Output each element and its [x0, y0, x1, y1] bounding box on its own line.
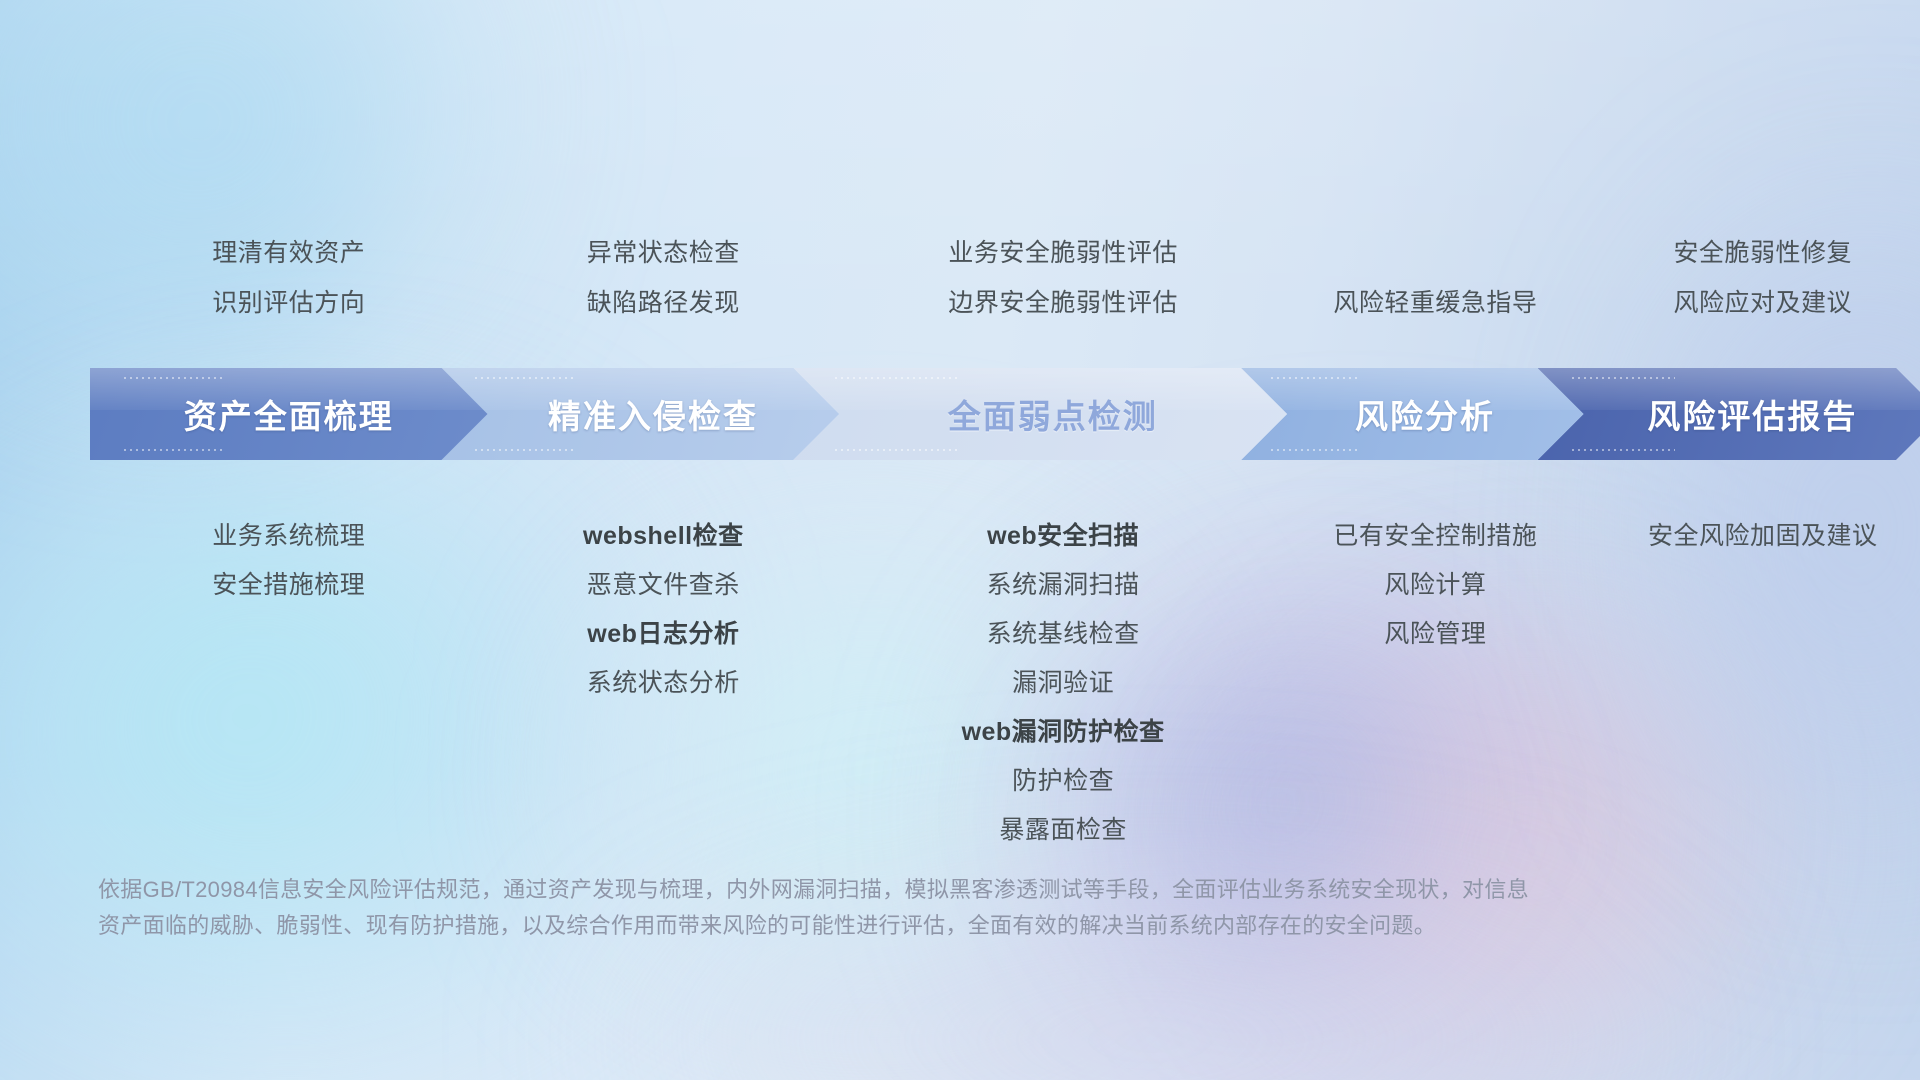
stage-detail-item: 风险计算 [1135, 561, 1735, 610]
footer-line-1: 依据GB/T20984信息安全风险评估规范，通过资产发现与梳理，内外网漏洞扫描，… [98, 872, 1738, 908]
top-note: 业务安全脆弱性评估 [763, 228, 1363, 278]
slide-canvas: 理清有效资产识别评估方向异常状态检查缺陷路径发现业务安全脆弱性评估边界安全脆弱性… [0, 0, 1920, 1080]
stage-details-column-assessment-report: 安全风险加固及建议 [1463, 512, 1920, 561]
stage-chevron-dot-texture [122, 447, 225, 453]
stage-label: 风险评估报告 [1647, 390, 1857, 438]
stage-label: 精准入侵检查 [548, 390, 758, 438]
stage-label: 资产全面梳理 [184, 390, 394, 438]
stage-chevron-dot-texture [1570, 447, 1675, 453]
stage-chevron-dot-texture [122, 375, 225, 381]
top-note: 风险应对及建议 [1463, 278, 1920, 328]
stage-detail-item: 漏洞验证 [763, 659, 1363, 708]
stage-label: 风险分析 [1355, 390, 1495, 438]
stage-detail-item: 防护检查 [763, 757, 1363, 806]
process-stage-weakness-detection[interactable]: 全面弱点检测 [793, 368, 1287, 460]
stage-detail-item: web漏洞防护检查 [763, 708, 1363, 757]
footer-line-2: 资产面临的威胁、脆弱性、现有防护措施，以及综合作用而带来风险的可能性进行评估，全… [98, 908, 1738, 944]
stage-detail-item: 暴露面检查 [763, 806, 1363, 855]
stage-chevron-dot-texture [473, 447, 576, 453]
stage-detail-item: 风险管理 [1135, 610, 1735, 659]
process-chevron-banner: 资产全面梳理精准入侵检查全面弱点检测风险分析风险评估报告 [90, 368, 1850, 460]
process-stage-intrusion-check[interactable]: 精准入侵检查 [442, 368, 840, 460]
top-note: 安全脆弱性修复 [1463, 228, 1920, 278]
stage-chevron-dot-texture [833, 447, 961, 453]
stage-detail-item: 安全风险加固及建议 [1463, 512, 1920, 561]
stage-chevron-dot-texture [473, 375, 576, 381]
footer-description: 依据GB/T20984信息安全风险评估规范，通过资产发现与梳理，内外网漏洞扫描，… [98, 872, 1738, 944]
stage-chevron-dot-texture [833, 375, 961, 381]
process-stage-asset-inventory[interactable]: 资产全面梳理 [90, 368, 488, 460]
process-stage-risk-analysis[interactable]: 风险分析 [1241, 368, 1583, 460]
process-stage-assessment-report[interactable]: 风险评估报告 [1538, 368, 1920, 460]
stage-chevron-dot-texture [1570, 375, 1675, 381]
stage-label: 全面弱点检测 [948, 390, 1158, 438]
top-notes-column-assessment-report: 安全脆弱性修复风险应对及建议 [1463, 228, 1920, 328]
